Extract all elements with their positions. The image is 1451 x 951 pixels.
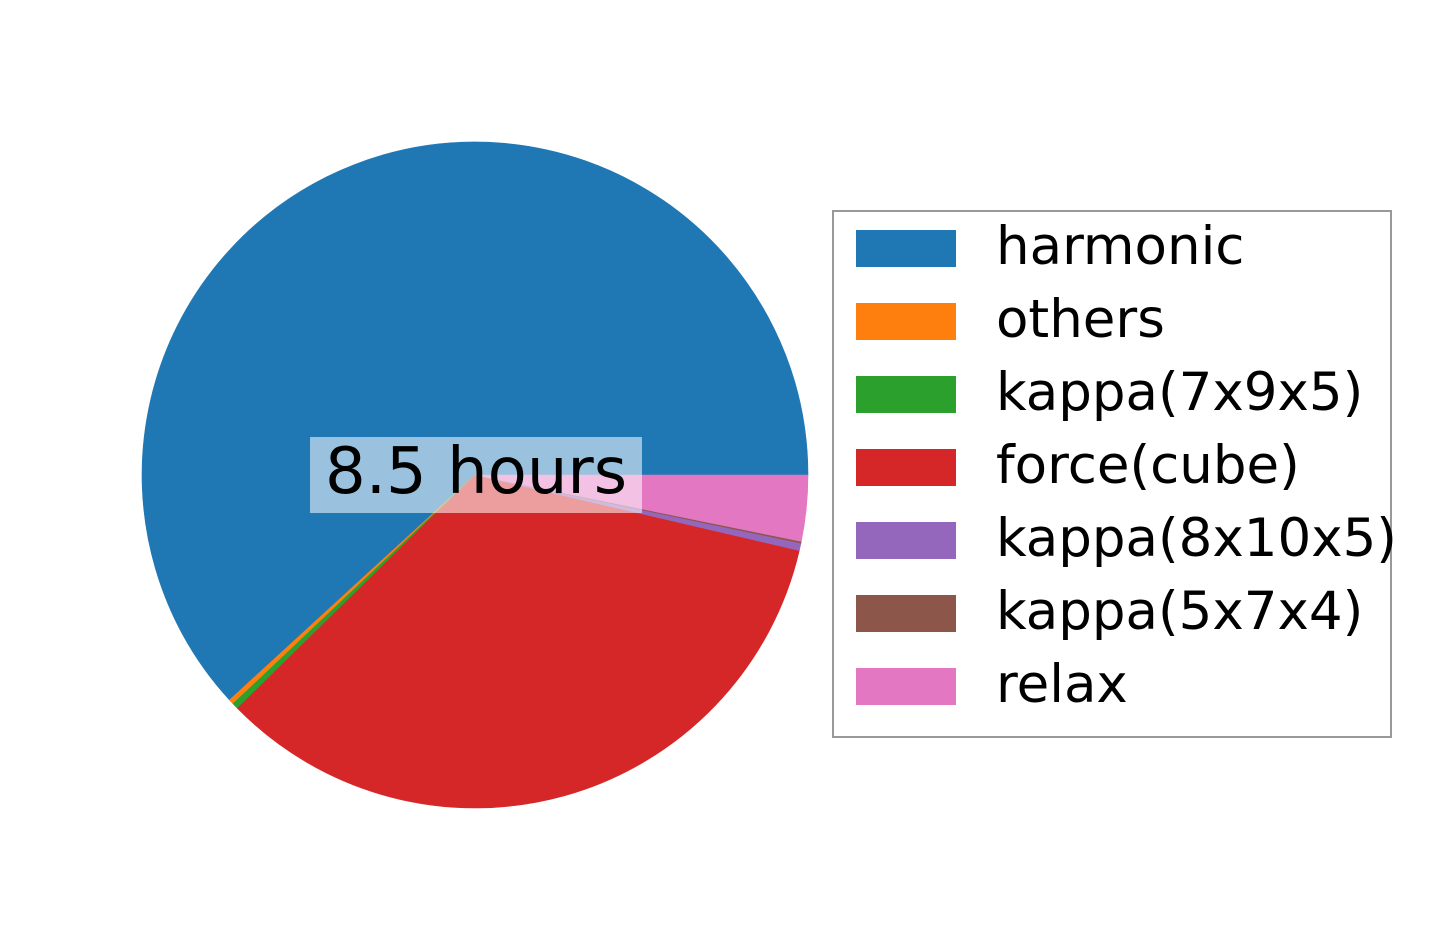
pie-center-label: 8.5 hours [310, 437, 642, 513]
legend-entry[interactable]: force(cube) [856, 437, 1300, 497]
legend-entry[interactable]: kappa(7x9x5) [856, 364, 1363, 424]
pie-center-label-text: 8.5 hours [325, 440, 627, 510]
legend-entry-label: kappa(8x10x5) [996, 512, 1397, 565]
legend-entry-label: kappa(5x7x4) [996, 585, 1363, 638]
legend-color-swatch [856, 668, 956, 705]
legend-entry-list: harmonicotherskappa(7x9x5)force(cube)kap… [834, 212, 1390, 736]
legend-color-swatch [856, 376, 956, 413]
legend-entry-label: harmonic [996, 220, 1244, 273]
legend-entry[interactable]: kappa(5x7x4) [856, 583, 1363, 643]
legend-entry[interactable]: others [856, 291, 1165, 351]
legend-entry-label: force(cube) [996, 439, 1300, 492]
legend-entry[interactable]: kappa(8x10x5) [856, 510, 1397, 570]
legend-box: harmonicotherskappa(7x9x5)force(cube)kap… [832, 210, 1392, 738]
legend-entry[interactable]: harmonic [856, 218, 1244, 278]
legend-color-swatch [856, 230, 956, 267]
legend-color-swatch [856, 522, 956, 559]
legend-entry[interactable]: relax [856, 656, 1128, 716]
legend-entry-label: others [996, 293, 1165, 346]
legend-entry-label: relax [996, 658, 1128, 711]
legend-color-swatch [856, 303, 956, 340]
legend-entry-label: kappa(7x9x5) [996, 366, 1363, 419]
figure-canvas: 8.5 hours harmonicotherskappa(7x9x5)forc… [0, 0, 1451, 951]
legend-color-swatch [856, 449, 956, 486]
legend-color-swatch [856, 595, 956, 632]
